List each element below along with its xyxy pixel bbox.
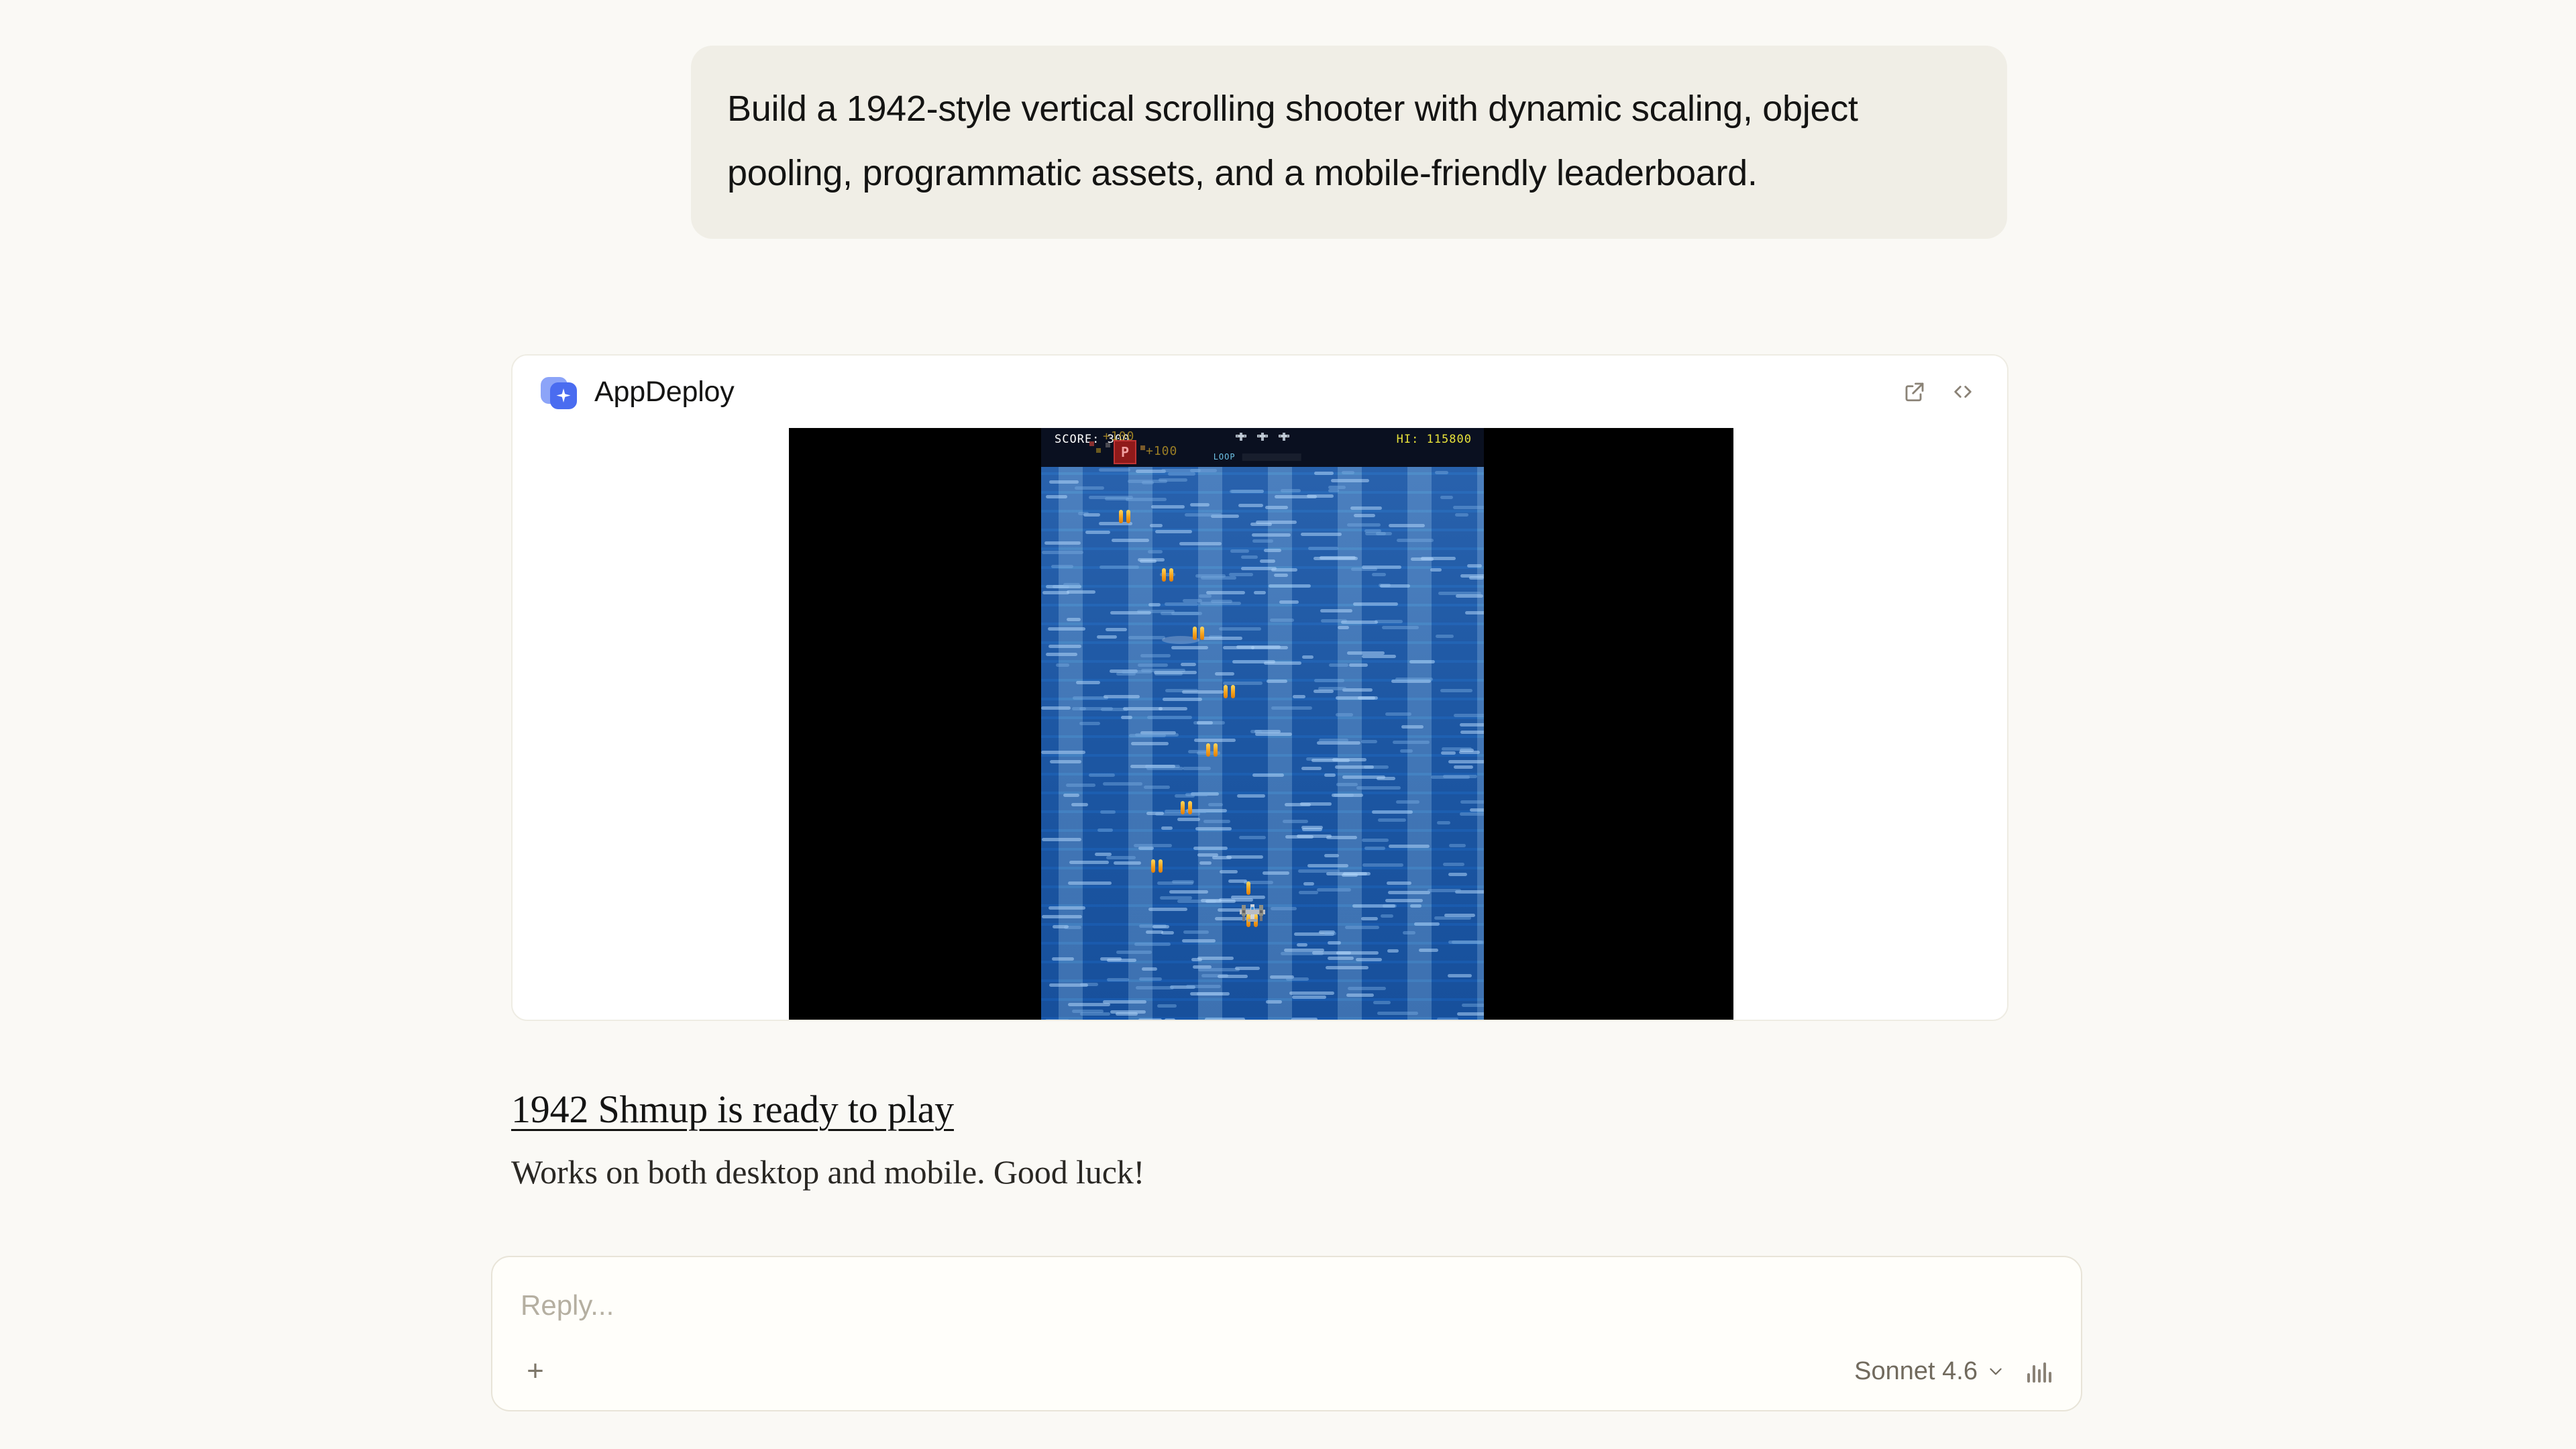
wave-streak xyxy=(1336,696,1375,700)
wave-streak xyxy=(1256,521,1297,524)
wave-streak xyxy=(1097,828,1113,832)
wave-streak xyxy=(1283,820,1308,823)
wave-streak xyxy=(1220,870,1238,873)
wave-streak xyxy=(1307,494,1334,498)
wave-streak xyxy=(1372,573,1386,576)
game-letterbox: SCORE: 300 HI: 115800 xyxy=(789,428,1733,1021)
wave-streak xyxy=(1462,1004,1484,1007)
wave-streak xyxy=(1298,869,1340,873)
wave-streak xyxy=(1190,992,1230,996)
wave-streak xyxy=(1397,539,1434,542)
wave-streak xyxy=(1142,967,1157,971)
wave-streak xyxy=(1362,655,1396,658)
wave-streak xyxy=(1403,931,1415,934)
wave-streak xyxy=(1311,759,1350,762)
wave-streak xyxy=(1146,930,1163,934)
wave-streak xyxy=(1157,1004,1177,1008)
wave-streak xyxy=(1155,530,1192,533)
wave-streak xyxy=(1440,689,1472,692)
wave-streak xyxy=(1254,591,1266,594)
wave-streak xyxy=(1123,707,1163,710)
bullet xyxy=(1193,627,1197,640)
wave-streak xyxy=(1421,557,1456,560)
hud-lives xyxy=(1235,432,1290,441)
wave-streak xyxy=(1314,679,1344,682)
wave-streak xyxy=(1079,722,1100,725)
bullet xyxy=(1126,510,1130,523)
wave-streak xyxy=(1228,879,1247,883)
powerup-box: P xyxy=(1114,440,1136,464)
wave-streak xyxy=(1226,855,1263,859)
wave-streak xyxy=(1169,890,1208,894)
wave-streak xyxy=(1199,861,1212,865)
wave-streak xyxy=(1116,1012,1138,1016)
wave-streak xyxy=(1146,812,1164,815)
game-viewport[interactable]: SCORE: 300 HI: 115800 xyxy=(513,428,2007,1021)
wave-streak xyxy=(1387,949,1399,953)
wave-streak xyxy=(1168,472,1195,476)
wave-streak xyxy=(1250,730,1262,733)
wave-streak xyxy=(1099,566,1139,569)
wave-streak xyxy=(1049,480,1079,484)
score-popup: +100 xyxy=(1146,444,1177,458)
wave-streak xyxy=(1467,564,1482,568)
wave-streak xyxy=(1230,490,1264,493)
wave-streak xyxy=(1338,626,1349,629)
wave-streak xyxy=(1252,533,1291,537)
wave-streak xyxy=(1042,591,1069,594)
wave-streak xyxy=(1159,707,1187,710)
wave-streak xyxy=(1301,533,1342,536)
wave-streak xyxy=(1266,1000,1282,1004)
wave-streak xyxy=(1448,873,1467,876)
wave-streak xyxy=(1085,531,1110,534)
wave-streak xyxy=(1271,706,1312,710)
bullet xyxy=(1159,859,1163,873)
waveform-bar xyxy=(2049,1372,2051,1383)
wave-streak xyxy=(1343,872,1371,875)
attach-button[interactable]: + xyxy=(517,1352,554,1390)
loop-track xyxy=(1242,453,1301,461)
wave-streak xyxy=(1112,539,1149,542)
wave-streak xyxy=(1281,489,1301,492)
wave-streak xyxy=(1362,566,1401,569)
wave-streak xyxy=(1211,600,1232,603)
wave-streak xyxy=(1049,906,1085,910)
wave-streak xyxy=(1347,523,1381,527)
wave-streak xyxy=(1071,803,1088,806)
wave-streak xyxy=(1046,495,1067,498)
wave-streak xyxy=(1353,602,1398,606)
artifact-title: AppDeploy xyxy=(594,376,735,409)
wave-streak xyxy=(1208,803,1223,806)
wave-streak xyxy=(1045,1019,1069,1021)
ocean-background xyxy=(1041,428,1484,1021)
wave-streak xyxy=(1229,573,1253,576)
waveform-bar xyxy=(2027,1373,2030,1383)
wave-streak xyxy=(1252,773,1284,777)
wave-streak xyxy=(1171,646,1208,649)
wave-streak xyxy=(1457,1012,1484,1016)
wave-streak xyxy=(1331,479,1369,482)
wave-streak xyxy=(1206,591,1245,594)
bullet xyxy=(1151,859,1155,873)
wave-streak xyxy=(1131,742,1169,745)
artifact-header: AppDeploy xyxy=(513,356,2007,428)
wave-streak xyxy=(1336,783,1358,786)
wave-streak xyxy=(1387,881,1411,885)
wave-streak xyxy=(1114,861,1141,865)
wave-streak xyxy=(1128,636,1165,639)
wave-streak xyxy=(1319,739,1348,742)
voice-waveform-icon[interactable] xyxy=(2027,1360,2051,1383)
wave-streak xyxy=(1352,904,1395,908)
wave-streak xyxy=(1194,739,1236,742)
wave-streak xyxy=(1179,542,1222,545)
wave-streak xyxy=(1147,716,1192,719)
wave-streak xyxy=(1183,767,1211,770)
wave-streak xyxy=(1161,469,1201,472)
wave-streak xyxy=(1303,882,1314,885)
bullet xyxy=(1214,743,1218,757)
bullet xyxy=(1224,685,1228,698)
wave-streak xyxy=(1454,765,1473,769)
wave-streak xyxy=(1442,747,1472,751)
wave-streak xyxy=(1356,958,1382,961)
wave-streak xyxy=(1443,863,1464,866)
bullet xyxy=(1188,801,1192,814)
wave-streak xyxy=(1177,818,1200,821)
bullet xyxy=(1169,568,1173,582)
wave-streak xyxy=(1121,716,1132,719)
wave-streak xyxy=(1185,513,1222,517)
wave-streak xyxy=(1389,845,1430,848)
artifact-card: AppDeploy xyxy=(511,354,2008,1021)
wave-streak xyxy=(1197,853,1218,857)
wave-streak xyxy=(1148,908,1187,911)
wave-streak xyxy=(1134,844,1172,847)
wave-streak xyxy=(1469,576,1484,580)
wave-streak xyxy=(1068,881,1112,885)
wave-streak xyxy=(1107,959,1136,962)
wave-streak xyxy=(1377,777,1395,780)
wave-streak xyxy=(1297,835,1332,838)
wave-streak xyxy=(1183,930,1209,934)
loop-label: LOOP xyxy=(1214,452,1236,462)
wave-streak xyxy=(1449,844,1466,847)
wave-streak xyxy=(1329,663,1348,667)
wave-streak xyxy=(1382,626,1419,629)
debris-particle xyxy=(1096,448,1101,453)
bullet xyxy=(1200,627,1204,640)
wave-streak xyxy=(1041,706,1071,710)
wave-streak xyxy=(1163,698,1202,701)
debris-particle xyxy=(1089,441,1094,446)
wave-streak xyxy=(1144,786,1170,789)
wave-streak xyxy=(1165,1018,1175,1021)
wave-streak xyxy=(1068,1003,1110,1006)
wave-streak xyxy=(1409,660,1435,663)
bullet xyxy=(1206,743,1210,757)
wave-streak xyxy=(1460,812,1484,816)
reply-input[interactable]: Reply... xyxy=(521,1289,614,1322)
wave-streak xyxy=(1349,663,1368,667)
waveform-bar xyxy=(2033,1365,2035,1383)
chevron-down-icon xyxy=(1987,1362,2004,1380)
wave-streak xyxy=(1364,847,1385,850)
wave-streak xyxy=(1362,839,1389,842)
wave-streak xyxy=(1151,505,1185,508)
model-selector-label: Sonnet 4.6 xyxy=(1854,1357,1978,1386)
wave-streak xyxy=(1285,803,1311,806)
bullet-pair xyxy=(1181,801,1192,814)
wave-streak xyxy=(1428,889,1461,892)
wave-streak xyxy=(1434,916,1471,920)
wave-streak xyxy=(1401,725,1424,729)
wave-streak xyxy=(1148,603,1161,606)
wave-streak xyxy=(1237,794,1265,798)
wave-streak xyxy=(1260,559,1275,563)
bullet xyxy=(1181,801,1185,814)
wave-streak xyxy=(1317,888,1351,892)
wave-streak xyxy=(1238,504,1263,507)
wave-streak xyxy=(1400,749,1413,753)
wave-streak xyxy=(1348,987,1386,990)
wave-streak xyxy=(1430,568,1442,572)
game-hud: SCORE: 300 HI: 115800 xyxy=(1041,428,1484,467)
wave-streak xyxy=(1181,663,1196,666)
wave-streak xyxy=(1274,574,1288,577)
life-icon xyxy=(1256,432,1269,441)
wave-streak xyxy=(1138,1018,1162,1021)
artifact-actions xyxy=(1900,377,1978,407)
wave-streak xyxy=(1301,767,1322,770)
wave-streak xyxy=(1099,468,1130,472)
wave-streak xyxy=(1381,914,1393,918)
wave-streak xyxy=(1414,922,1440,926)
wave-streak xyxy=(1053,925,1069,928)
wave-streak xyxy=(1051,565,1073,568)
wave-streak xyxy=(1067,590,1095,594)
wave-streak xyxy=(1148,550,1163,553)
wave-streak xyxy=(1299,891,1318,894)
wave-streak xyxy=(1152,925,1169,928)
wave-streak xyxy=(1097,635,1117,639)
wave-streak xyxy=(1373,1001,1391,1004)
wave-streak xyxy=(1041,751,1085,754)
wave-streak xyxy=(1342,471,1354,474)
wave-streak xyxy=(1361,740,1377,743)
wave-streak xyxy=(1328,957,1354,960)
wave-streak xyxy=(1075,486,1104,490)
bullet-pair xyxy=(1206,743,1218,757)
life-icon xyxy=(1235,432,1247,441)
wave-streak xyxy=(1106,856,1136,859)
wave-streak xyxy=(1089,496,1133,499)
wave-streak xyxy=(1049,983,1088,987)
wave-streak xyxy=(1393,741,1430,744)
wave-streak xyxy=(1441,751,1456,755)
wave-streak xyxy=(1175,794,1195,798)
wave-streak xyxy=(1320,609,1352,612)
wave-streak xyxy=(1388,891,1430,894)
wave-streak xyxy=(1052,957,1074,961)
wave-streak xyxy=(1199,594,1212,598)
wave-streak xyxy=(1437,1018,1458,1021)
wave-streak xyxy=(1289,991,1334,995)
wave-streak xyxy=(1437,821,1450,824)
wave-streak xyxy=(1460,723,1484,727)
wave-streak xyxy=(1042,915,1082,918)
wave-streak xyxy=(1395,678,1433,681)
wave-streak xyxy=(1455,513,1468,517)
code-view-icon[interactable] xyxy=(1948,377,1978,407)
wave-streak xyxy=(1328,941,1341,945)
hud-loop-meter: LOOP xyxy=(1214,452,1301,462)
wave-streak xyxy=(1104,695,1140,698)
wave-streak xyxy=(1336,713,1353,716)
wave-streak xyxy=(1048,627,1085,631)
wave-streak xyxy=(1335,765,1374,769)
wave-streak xyxy=(1116,951,1152,954)
wave-streak xyxy=(1201,899,1222,902)
wave-streak xyxy=(1385,899,1423,902)
wave-streak xyxy=(1314,472,1334,475)
wave-streak xyxy=(1326,966,1368,969)
wave-streak xyxy=(1302,655,1313,659)
wave-streak xyxy=(1460,731,1484,734)
wave-streak xyxy=(1078,512,1089,515)
wave-streak xyxy=(1067,618,1081,621)
wave-streak xyxy=(1270,619,1294,622)
wave-streak xyxy=(1066,784,1095,787)
composer-right-group: Sonnet 4.6 xyxy=(1854,1357,2051,1386)
wave-streak xyxy=(1107,978,1129,981)
game-playfield[interactable]: SCORE: 300 HI: 115800 xyxy=(1041,428,1484,1021)
response-heading: 1942 Shmup is ready to play xyxy=(511,1087,954,1132)
wave-streak xyxy=(1291,1018,1318,1021)
wave-streak xyxy=(1263,871,1289,875)
wave-streak xyxy=(1150,524,1163,527)
wave-streak xyxy=(1146,767,1183,770)
wave-streak xyxy=(1154,671,1197,674)
bullet-pair xyxy=(1151,859,1163,873)
wave-streak xyxy=(1072,707,1086,710)
wave-streak xyxy=(1232,660,1275,663)
waveform-bar xyxy=(2043,1362,2046,1383)
bullet-pair xyxy=(1162,568,1173,582)
wave-streak xyxy=(1345,926,1379,929)
wave-streak xyxy=(1271,907,1297,910)
debris-particle xyxy=(1140,445,1145,450)
wave-streak xyxy=(1076,681,1100,684)
wave-streak xyxy=(1350,506,1382,510)
wave-streak xyxy=(1103,782,1142,786)
wave-streak xyxy=(1324,773,1336,777)
wave-streak xyxy=(1286,977,1309,981)
wave-streak xyxy=(1236,645,1281,649)
wave-streak xyxy=(1134,943,1171,946)
wave-streak xyxy=(1465,611,1484,614)
waveform-bar xyxy=(2038,1369,2041,1383)
wave-streak xyxy=(1214,1020,1232,1021)
wave-streak xyxy=(1385,712,1411,716)
open-external-icon[interactable] xyxy=(1900,377,1929,407)
composer-toolbar: + Sonnet 4.6 xyxy=(492,1350,2081,1393)
wave-streak xyxy=(1138,558,1165,561)
wave-streak xyxy=(1182,939,1216,943)
wave-streak xyxy=(1190,503,1210,506)
wave-streak xyxy=(1046,653,1077,656)
model-selector[interactable]: Sonnet 4.6 xyxy=(1854,1357,2004,1386)
bullet-pair xyxy=(1119,510,1130,523)
debris-particle xyxy=(1106,443,1110,447)
player-plane xyxy=(1237,899,1268,927)
wave-streak xyxy=(1375,620,1403,623)
wave-streak xyxy=(1440,496,1453,499)
wave-streak xyxy=(1218,975,1248,978)
bullet xyxy=(1162,568,1166,582)
wave-streak xyxy=(1042,838,1081,841)
wave-streak xyxy=(1140,654,1171,657)
bullet-pair xyxy=(1246,881,1251,895)
wave-streak xyxy=(1122,670,1152,674)
wave-streak xyxy=(1235,967,1260,970)
bullet-pair xyxy=(1224,685,1235,698)
wave-streak xyxy=(1312,951,1351,955)
bullet-pair xyxy=(1193,627,1204,640)
wave-streak xyxy=(1362,863,1403,867)
wave-streak xyxy=(1197,957,1234,960)
wave-streak xyxy=(1269,584,1311,588)
wave-streak xyxy=(1205,1018,1245,1021)
wave-streak xyxy=(1230,549,1249,553)
wave-streak xyxy=(1203,820,1230,823)
wave-streak xyxy=(1342,688,1373,692)
reply-composer[interactable]: Reply... + Sonnet 4.6 xyxy=(491,1256,2082,1411)
wave-streak xyxy=(1267,680,1287,683)
wave-streak xyxy=(1454,714,1484,717)
user-prompt-text: Build a 1942-style vertical scrolling sh… xyxy=(727,76,1971,205)
wave-streak xyxy=(1279,600,1299,604)
user-prompt-bubble: Build a 1942-style vertical scrolling sh… xyxy=(691,46,2007,239)
wave-streak xyxy=(1470,808,1484,812)
app-root: Build a 1942-style vertical scrolling sh… xyxy=(0,0,2576,1449)
wave-streak xyxy=(1157,881,1193,885)
wave-streak xyxy=(1195,827,1232,830)
wave-streak xyxy=(1448,974,1472,977)
wave-streak xyxy=(1320,556,1356,559)
wave-streak xyxy=(1089,773,1115,777)
wave-streak xyxy=(1443,775,1477,778)
wave-streak xyxy=(1080,1012,1110,1016)
wave-streak xyxy=(1389,524,1425,527)
wave-streak xyxy=(1193,847,1228,850)
wave-streak xyxy=(1215,672,1234,676)
wave-streak xyxy=(1241,567,1277,570)
life-icon xyxy=(1278,432,1290,441)
wave-streak xyxy=(1203,637,1242,640)
wave-streak xyxy=(1042,551,1083,554)
wave-streak xyxy=(1241,555,1258,559)
wave-streak xyxy=(1308,547,1338,550)
wave-streak xyxy=(1292,996,1326,999)
wave-streak xyxy=(1452,941,1484,944)
wave-streak xyxy=(1419,949,1438,952)
wave-streak xyxy=(1171,612,1202,615)
wave-streak xyxy=(1106,628,1127,631)
wave-streak xyxy=(1456,594,1483,598)
